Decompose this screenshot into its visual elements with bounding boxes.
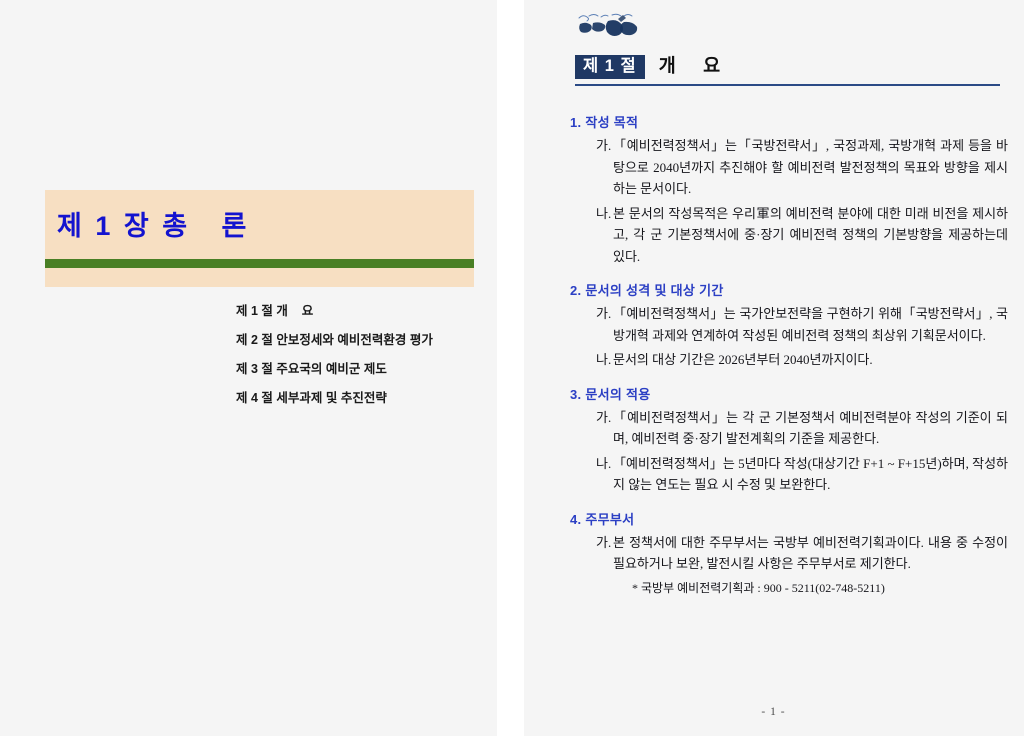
list-marker: 가. — [596, 532, 613, 575]
list-marker: 나. — [596, 453, 613, 496]
chapter-title: 제 1 장 총 론 — [57, 204, 249, 243]
list-item: 가. 「예비전력정책서」는 각 군 기본정책서 예비전력분야 작성의 기준이 되… — [596, 407, 1008, 450]
section-title: 개 요 — [659, 52, 723, 79]
list-marker: 가. — [596, 407, 613, 450]
list-marker: 나. — [596, 203, 613, 268]
section-number-chip: 제 1 절 — [575, 55, 645, 79]
page-gutter — [498, 0, 523, 736]
list-item: 나. 본 문서의 작성목적은 우리軍의 예비전력 분야에 대한 미래 비전을 제… — [596, 203, 1008, 268]
toc-entry-2[interactable]: 제 2 절 안보정세와 예비전력환경 평가 — [236, 326, 496, 355]
toc-entry-4[interactable]: 제 4 절 세부과제 및 추진전략 — [236, 384, 496, 413]
document-spread: 제 1 장 총 론 제 1 절 개 요 제 2 절 안보정세와 예비전력환경 평… — [0, 0, 1024, 736]
list-item: 나. 문서의 대상 기간은 2026년부터 2040년까지이다. — [596, 349, 1008, 371]
section-heading-4: 4. 주무부서 — [570, 509, 1008, 528]
toc-entry-3[interactable]: 제 3 절 주요국의 예비군 제도 — [236, 355, 496, 384]
left-page: 제 1 장 총 론 제 1 절 개 요 제 2 절 안보정세와 예비전력환경 평… — [0, 0, 498, 736]
chapter-title-band: 제 1 장 총 론 — [45, 190, 474, 287]
section-heading-2: 2. 문서의 성격 및 대상 기간 — [570, 280, 1008, 299]
toc-entry-1[interactable]: 제 1 절 개 요 — [236, 297, 496, 326]
section-block-1: 1. 작성 목적 가. 「예비전력정책서」는「국방전략서」, 국정과제, 국방개… — [560, 112, 1008, 267]
section-header-rule — [575, 84, 1000, 86]
section-block-4: 4. 주무부서 가. 본 정책서에 대한 주무부서는 국방부 예비전력기획과이다… — [560, 509, 1008, 598]
footnote-contact: * 국방부 예비전력기획과 : 900 - 5211(02-748-5211) — [632, 578, 1008, 598]
list-text: 「예비전력정책서」는 각 군 기본정책서 예비전력분야 작성의 기준이 되며, … — [613, 407, 1008, 450]
brand-logo-icon — [576, 10, 658, 40]
section-block-3: 3. 문서의 적용 가. 「예비전력정책서」는 각 군 기본정책서 예비전력분야… — [560, 384, 1008, 496]
list-marker: 가. — [596, 303, 613, 346]
list-text: 「예비전력정책서」는 국가안보전략을 구현하기 위해「국방전략서」, 국방개혁 … — [613, 303, 1008, 346]
list-marker: 가. — [596, 135, 613, 200]
list-item: 나. 「예비전력정책서」는 5년마다 작성(대상기간 F+1 ~ F+15년)하… — [596, 453, 1008, 496]
list-text: 문서의 대상 기간은 2026년부터 2040년까지이다. — [613, 349, 1008, 371]
list-text: 본 정책서에 대한 주무부서는 국방부 예비전력기획과이다. 내용 중 수정이 … — [613, 532, 1008, 575]
section-heading-1: 1. 작성 목적 — [570, 112, 1008, 131]
section-block-2: 2. 문서의 성격 및 대상 기간 가. 「예비전력정책서」는 국가안보전략을 … — [560, 280, 1008, 371]
list-item: 가. 「예비전력정책서」는 국가안보전략을 구현하기 위해「국방전략서」, 국방… — [596, 303, 1008, 346]
section-body: 1. 작성 목적 가. 「예비전력정책서」는「국방전략서」, 국정과제, 국방개… — [560, 112, 1008, 598]
list-text: 본 문서의 작성목적은 우리軍의 예비전력 분야에 대한 미래 비전을 제시하고… — [613, 203, 1008, 268]
list-text: 「예비전력정책서」는「국방전략서」, 국정과제, 국방개혁 과제 등을 바탕으로… — [613, 135, 1008, 200]
section-heading-3: 3. 문서의 적용 — [570, 384, 1008, 403]
list-item: 가. 「예비전력정책서」는「국방전략서」, 국정과제, 국방개혁 과제 등을 바… — [596, 135, 1008, 200]
page-number: - 1 - — [523, 706, 1024, 718]
table-of-contents: 제 1 절 개 요 제 2 절 안보정세와 예비전력환경 평가 제 3 절 주요… — [236, 297, 496, 413]
list-text: 「예비전력정책서」는 5년마다 작성(대상기간 F+1 ~ F+15년)하며, … — [613, 453, 1008, 496]
list-item: 가. 본 정책서에 대한 주무부서는 국방부 예비전력기획과이다. 내용 중 수… — [596, 532, 1008, 575]
section-header: 제 1 절 개 요 — [575, 52, 723, 79]
chapter-divider-rule — [45, 259, 474, 268]
list-marker: 나. — [596, 349, 613, 371]
